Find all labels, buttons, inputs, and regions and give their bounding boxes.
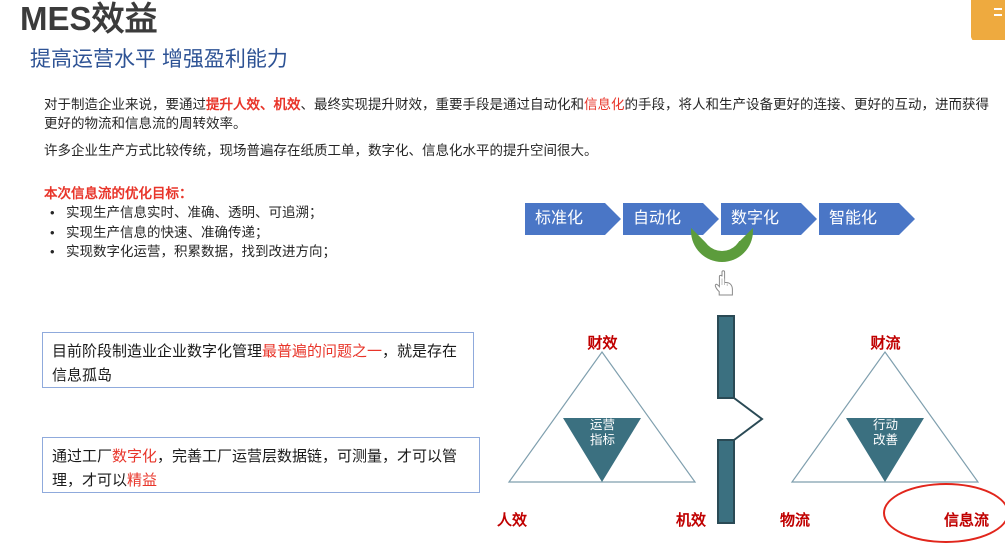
callout-box-digitalization: 通过工厂数字化，完善工厂运营层数据链，可测量，才可以管理，才可以精益 xyxy=(42,437,480,493)
intro-seg-3: 、最终实现提升财效，重要手段是通过自动化和 xyxy=(301,97,585,112)
list-item: 实现生产信息的快速、准确传递； xyxy=(44,223,336,243)
center-text-line2: 指标 xyxy=(568,433,638,448)
logo-tick-1 xyxy=(994,8,1002,10)
callout1-seg-2-highlight: 最普遍的问题之一 xyxy=(262,343,382,360)
triangle-left-bottomright-label: 机效 xyxy=(676,509,706,530)
information-flow-highlight-ellipse xyxy=(883,483,1005,543)
triangle-left-top-label: 财效 xyxy=(587,332,617,353)
teal-transform-arrow-icon xyxy=(700,312,780,527)
intro-seg-1: 对于制造企业来说，要通过 xyxy=(44,97,206,112)
goal-heading: 本次信息流的优化目标： xyxy=(44,182,193,202)
slide-root: MES效益 提高运营水平 增强盈利能力 对于制造企业来说，要通过提升人效、机效、… xyxy=(0,0,1005,537)
pointing-hand-icon xyxy=(711,268,737,298)
list-item: 实现数字化运营，积累数据，找到改进方向； xyxy=(44,242,336,262)
intro-paragraph: 对于制造企业来说，要通过提升人效、机效、最终实现提升财效，重要手段是通过自动化和… xyxy=(44,95,994,133)
logo-tick-2 xyxy=(994,14,1002,16)
callout2-seg-2-highlight: 数字化 xyxy=(112,448,157,465)
process-highlight-arc xyxy=(691,228,753,262)
center-text-line1: 行动 xyxy=(851,418,921,433)
intro-seg-2-highlight: 提升人效、机效 xyxy=(206,97,301,112)
center-text-line2: 改善 xyxy=(851,433,921,448)
triangle-right-top-label: 财流 xyxy=(870,332,900,353)
triangle-right-center-text: 行动 改善 xyxy=(851,418,921,448)
callout-box-information-silo: 目前阶段制造业企业数字化管理最普遍的问题之一，就是存在信息孤岛 xyxy=(42,332,474,388)
callout2-seg-4-highlight: 精益 xyxy=(127,472,157,489)
intro-seg-4-highlight: 信息化 xyxy=(584,97,625,112)
process-step-standardization[interactable]: 标准化 xyxy=(525,203,605,235)
triangle-right-bottomleft-label: 物流 xyxy=(780,509,810,530)
callout1-seg-1: 目前阶段制造业企业数字化管理 xyxy=(52,343,262,360)
triangle-left-center-text: 运营 指标 xyxy=(568,418,638,448)
page-subtitle: 提高运营水平 增强盈利能力 xyxy=(30,46,288,74)
callout2-seg-1: 通过工厂 xyxy=(52,448,112,465)
center-text-line1: 运营 xyxy=(568,418,638,433)
operations-indicator-triangle: 财效 人效 机效 运营 指标 xyxy=(495,330,710,530)
triangle-left-bottomleft-label: 人效 xyxy=(497,509,527,530)
process-step-intelligence[interactable]: 智能化 xyxy=(819,203,899,235)
list-item: 实现生产信息实时、准确、透明、可追溯； xyxy=(44,203,336,223)
action-improvement-triangle: 财流 物流 信息流 行动 改善 xyxy=(778,330,993,530)
brand-logo-icon xyxy=(963,0,1005,40)
page-title: MES效益 xyxy=(20,0,158,40)
goal-bullet-list: 实现生产信息实时、准确、透明、可追溯； 实现生产信息的快速、准确传递； 实现数字… xyxy=(44,203,336,262)
secondary-paragraph: 许多企业生产方式比较传统，现场普遍存在纸质工单，数字化、信息化水平的提升空间很大… xyxy=(44,141,994,160)
